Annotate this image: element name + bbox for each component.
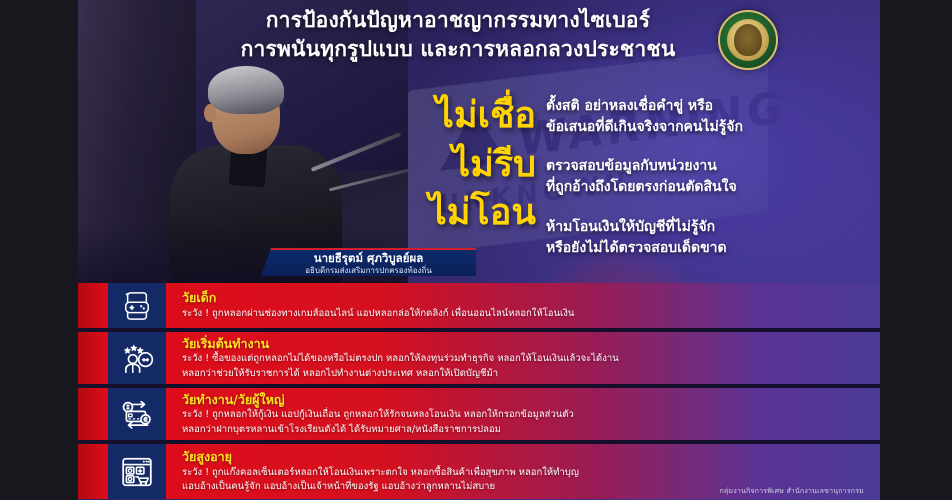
row-heading: วัยสูงอายุ: [182, 449, 870, 465]
letterbox-right: [880, 0, 952, 500]
job-offer-person-icon: [120, 341, 154, 375]
age-group-rows: วัยเด็ก ระวัง ! ถูกหลอกผ่านช่องทางเกมส์อ…: [78, 283, 880, 500]
row-body: วัยทำงาน/วัยผู้ใหญ่ ระวัง ! ถูกหลอกให้กู…: [182, 388, 870, 440]
row-heading: วัยเด็ก: [182, 290, 870, 306]
speaker-hair: [208, 66, 284, 114]
footer-credit: กลุ่มงานกิจการพิเศษ สำนักงานเลขานุการกรม: [719, 486, 864, 497]
thai-government-seal-icon: [718, 10, 778, 70]
advice-2-line-2: ที่ถูกอ้างถึงโดยตรงก่อนตัดสินใจ: [546, 177, 846, 198]
speaker-name: นายธีรุตม์ ศุภวิบูลย์ผล: [261, 252, 476, 265]
title-line-1: การป้องกันปัญหาอาชญากรรมทางไซเบอร์: [266, 8, 650, 32]
advice-item-2: ตรวจสอบข้อมูลกับหน่วยงาน ที่ถูกอ้างถึงโด…: [546, 156, 846, 198]
row-icon-panel: [108, 388, 166, 440]
age-group-row-child[interactable]: วัยเด็ก ระวัง ! ถูกหลอกผ่านช่องทางเกมส์อ…: [78, 283, 880, 328]
advice-item-1: ตั้งสติ อย่าหลงเชื่อคำขู่ หรือ ข้อเสนอที…: [546, 96, 846, 138]
age-group-row-adult[interactable]: วัยทำงาน/วัยผู้ใหญ่ ระวัง ! ถูกหลอกให้กู…: [78, 388, 880, 440]
seal-garuda-figure: [734, 24, 762, 56]
page-title: การป้องกันปัญหาอาชญากรรมทางไซเบอร์ การพน…: [138, 6, 778, 63]
phone-gamepad-icon: [122, 291, 152, 321]
row-detail-line-1: ระวัง ! ซื้อของแต่ถูกหลอกไม่ได้ของหรือไม…: [182, 352, 870, 365]
row-detail-line-2: หลอกว่าช่วยให้รับราชการได้ หลอกไปทำงานต่…: [182, 367, 870, 380]
row-body: วัยเริ่มต้นทำงาน ระวัง ! ซื้อของแต่ถูกหล…: [182, 332, 870, 384]
row-icon-panel: [108, 283, 166, 328]
row-icon-panel: [108, 444, 166, 499]
online-shopping-icon: [120, 455, 154, 489]
title-line-2: การพนันทุกรูปแบบ และการหลอกลวงประชาชน: [138, 35, 778, 64]
row-icon-panel: [108, 332, 166, 384]
money-transfer-icon: [120, 397, 154, 431]
poster-canvas: WARNING UNKNOWN การป้องกันปัญหาอาชญากรรม…: [78, 0, 880, 500]
advice-3-line-2: หรือยังไม่ได้ตรวจสอบเด็ดขาด: [546, 238, 846, 259]
row-detail-line-1: ระวัง ! ถูกหลอกผ่านช่องทางเกมส์ออนไลน์ แ…: [182, 307, 870, 320]
slogan-block: ไม่เชื่อ ไม่รีบ ไม่โอน: [396, 92, 536, 238]
speaker-role: อธิบดีกรมส่งเสริมการปกครองท้องถิ่น: [261, 266, 476, 276]
slogan-line-1: ไม่เชื่อ: [396, 92, 536, 141]
row-left-cap: [78, 332, 108, 384]
header: การป้องกันปัญหาอาชญากรรมทางไซเบอร์ การพน…: [78, 6, 880, 68]
row-heading: วัยเริ่มต้นทำงาน: [182, 336, 870, 352]
advice-block: ตั้งสติ อย่าหลงเชื่อคำขู่ หรือ ข้อเสนอที…: [546, 96, 846, 273]
advice-item-3: ห้ามโอนเงินให้บัญชีที่ไม่รู้จัก หรือยังไ…: [546, 217, 846, 259]
row-left-cap: [78, 388, 108, 440]
letterbox-left: [0, 0, 78, 500]
row-heading: วัยทำงาน/วัยผู้ใหญ่: [182, 392, 870, 408]
advice-2-line-1: ตรวจสอบข้อมูลกับหน่วยงาน: [546, 156, 846, 177]
slogan-line-2: ไม่รีบ: [396, 141, 536, 190]
speaker-name-badge: นายธีรุตม์ ศุภวิบูลย์ผล อธิบดีกรมส่งเสริ…: [261, 248, 476, 278]
row-left-cap: [78, 444, 108, 499]
row-detail-line-2: หลอกว่าฝากบุตรหลานเข้าโรงเรียนดังได้ ได้…: [182, 423, 870, 436]
row-left-cap: [78, 283, 108, 328]
advice-1-line-2: ข้อเสนอที่ดีเกินจริงจากคนไม่รู้จัก: [546, 117, 846, 138]
age-group-row-early-career[interactable]: วัยเริ่มต้นทำงาน ระวัง ! ซื้อของแต่ถูกหล…: [78, 332, 880, 384]
speaker-ear: [204, 104, 216, 122]
infographic-stage: WARNING UNKNOWN การป้องกันปัญหาอาชญากรรม…: [0, 0, 952, 500]
row-detail-line-1: ระวัง ! ถูกหลอกให้กู้เงิน แอปกู้เงินเถื่…: [182, 408, 870, 421]
row-body: วัยเด็ก ระวัง ! ถูกหลอกผ่านช่องทางเกมส์อ…: [182, 283, 870, 328]
row-detail-line-1: ระวัง ! ถูกแก๊งคอลเซ็นเตอร์หลอกให้โอนเงิ…: [182, 466, 870, 479]
advice-1-line-1: ตั้งสติ อย่าหลงเชื่อคำขู่ หรือ: [546, 96, 846, 117]
slogan-line-3: ไม่โอน: [396, 189, 536, 238]
advice-3-line-1: ห้ามโอนเงินให้บัญชีที่ไม่รู้จัก: [546, 217, 846, 238]
